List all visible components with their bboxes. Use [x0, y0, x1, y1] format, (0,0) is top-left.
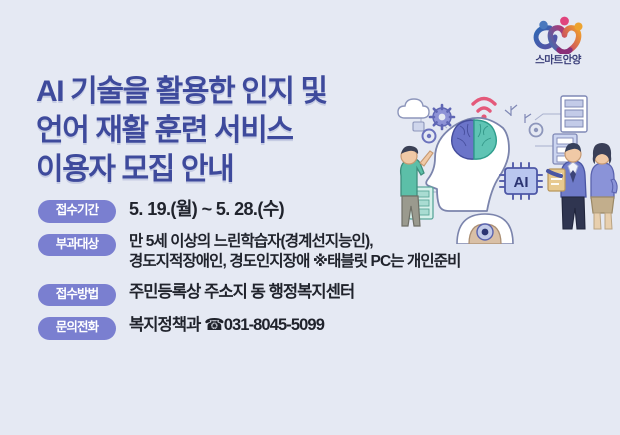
- server-rack-icon: [561, 96, 587, 132]
- pill-method: 접수방법: [38, 284, 116, 307]
- info-row-application-period: 접수기간 5. 19.(월) ~ 5. 28.(수): [38, 198, 598, 223]
- logo-label: 스마트안양: [510, 55, 606, 66]
- info-list: 접수기간 5. 19.(월) ~ 5. 28.(수) 부과대상 만 5세 이상의…: [38, 198, 598, 349]
- value-contact: 복지정책과 ☎031-8045-5099: [129, 315, 324, 337]
- circuit-lines: [505, 105, 531, 123]
- info-row-method: 접수방법 주민등록상 주소지 동 행정복지센터: [38, 282, 598, 307]
- smart-anyang-heart-logo-icon: [528, 12, 588, 54]
- info-row-contact: 문의전화 복지정책과 ☎031-8045-5099: [38, 315, 598, 340]
- pill-target: 부과대상: [38, 234, 116, 257]
- gear-icon: [430, 105, 454, 129]
- pill-contact: 문의전화: [38, 317, 116, 340]
- ai-chip-icon: AI: [500, 163, 542, 199]
- cloud-icon: [398, 99, 429, 118]
- value-method: 주민등록상 주소지 동 행정복지센터: [129, 282, 354, 304]
- gear-small-icon: [423, 130, 436, 143]
- smart-anyang-logo: 스마트안양: [510, 12, 606, 66]
- value-target: 만 5세 이상의 느린학습자(경계선지능인), 경도지적장애인, 경도인지장애 …: [129, 232, 461, 273]
- wifi-icon: [473, 99, 495, 120]
- info-row-target: 부과대상 만 5세 이상의 느린학습자(경계선지능인), 경도지적장애인, 경도…: [38, 232, 598, 273]
- poster-root: 스마트안양 AI 기술을 활용한 인지 및 언어 재활 훈련 서비스 이용자 모…: [0, 0, 620, 435]
- ai-chip-label: AI: [514, 174, 529, 191]
- gear-right-icon: [530, 124, 543, 137]
- pill-application-period: 접수기간: [38, 200, 116, 223]
- value-application-period: 5. 19.(월) ~ 5. 28.(수): [129, 198, 284, 222]
